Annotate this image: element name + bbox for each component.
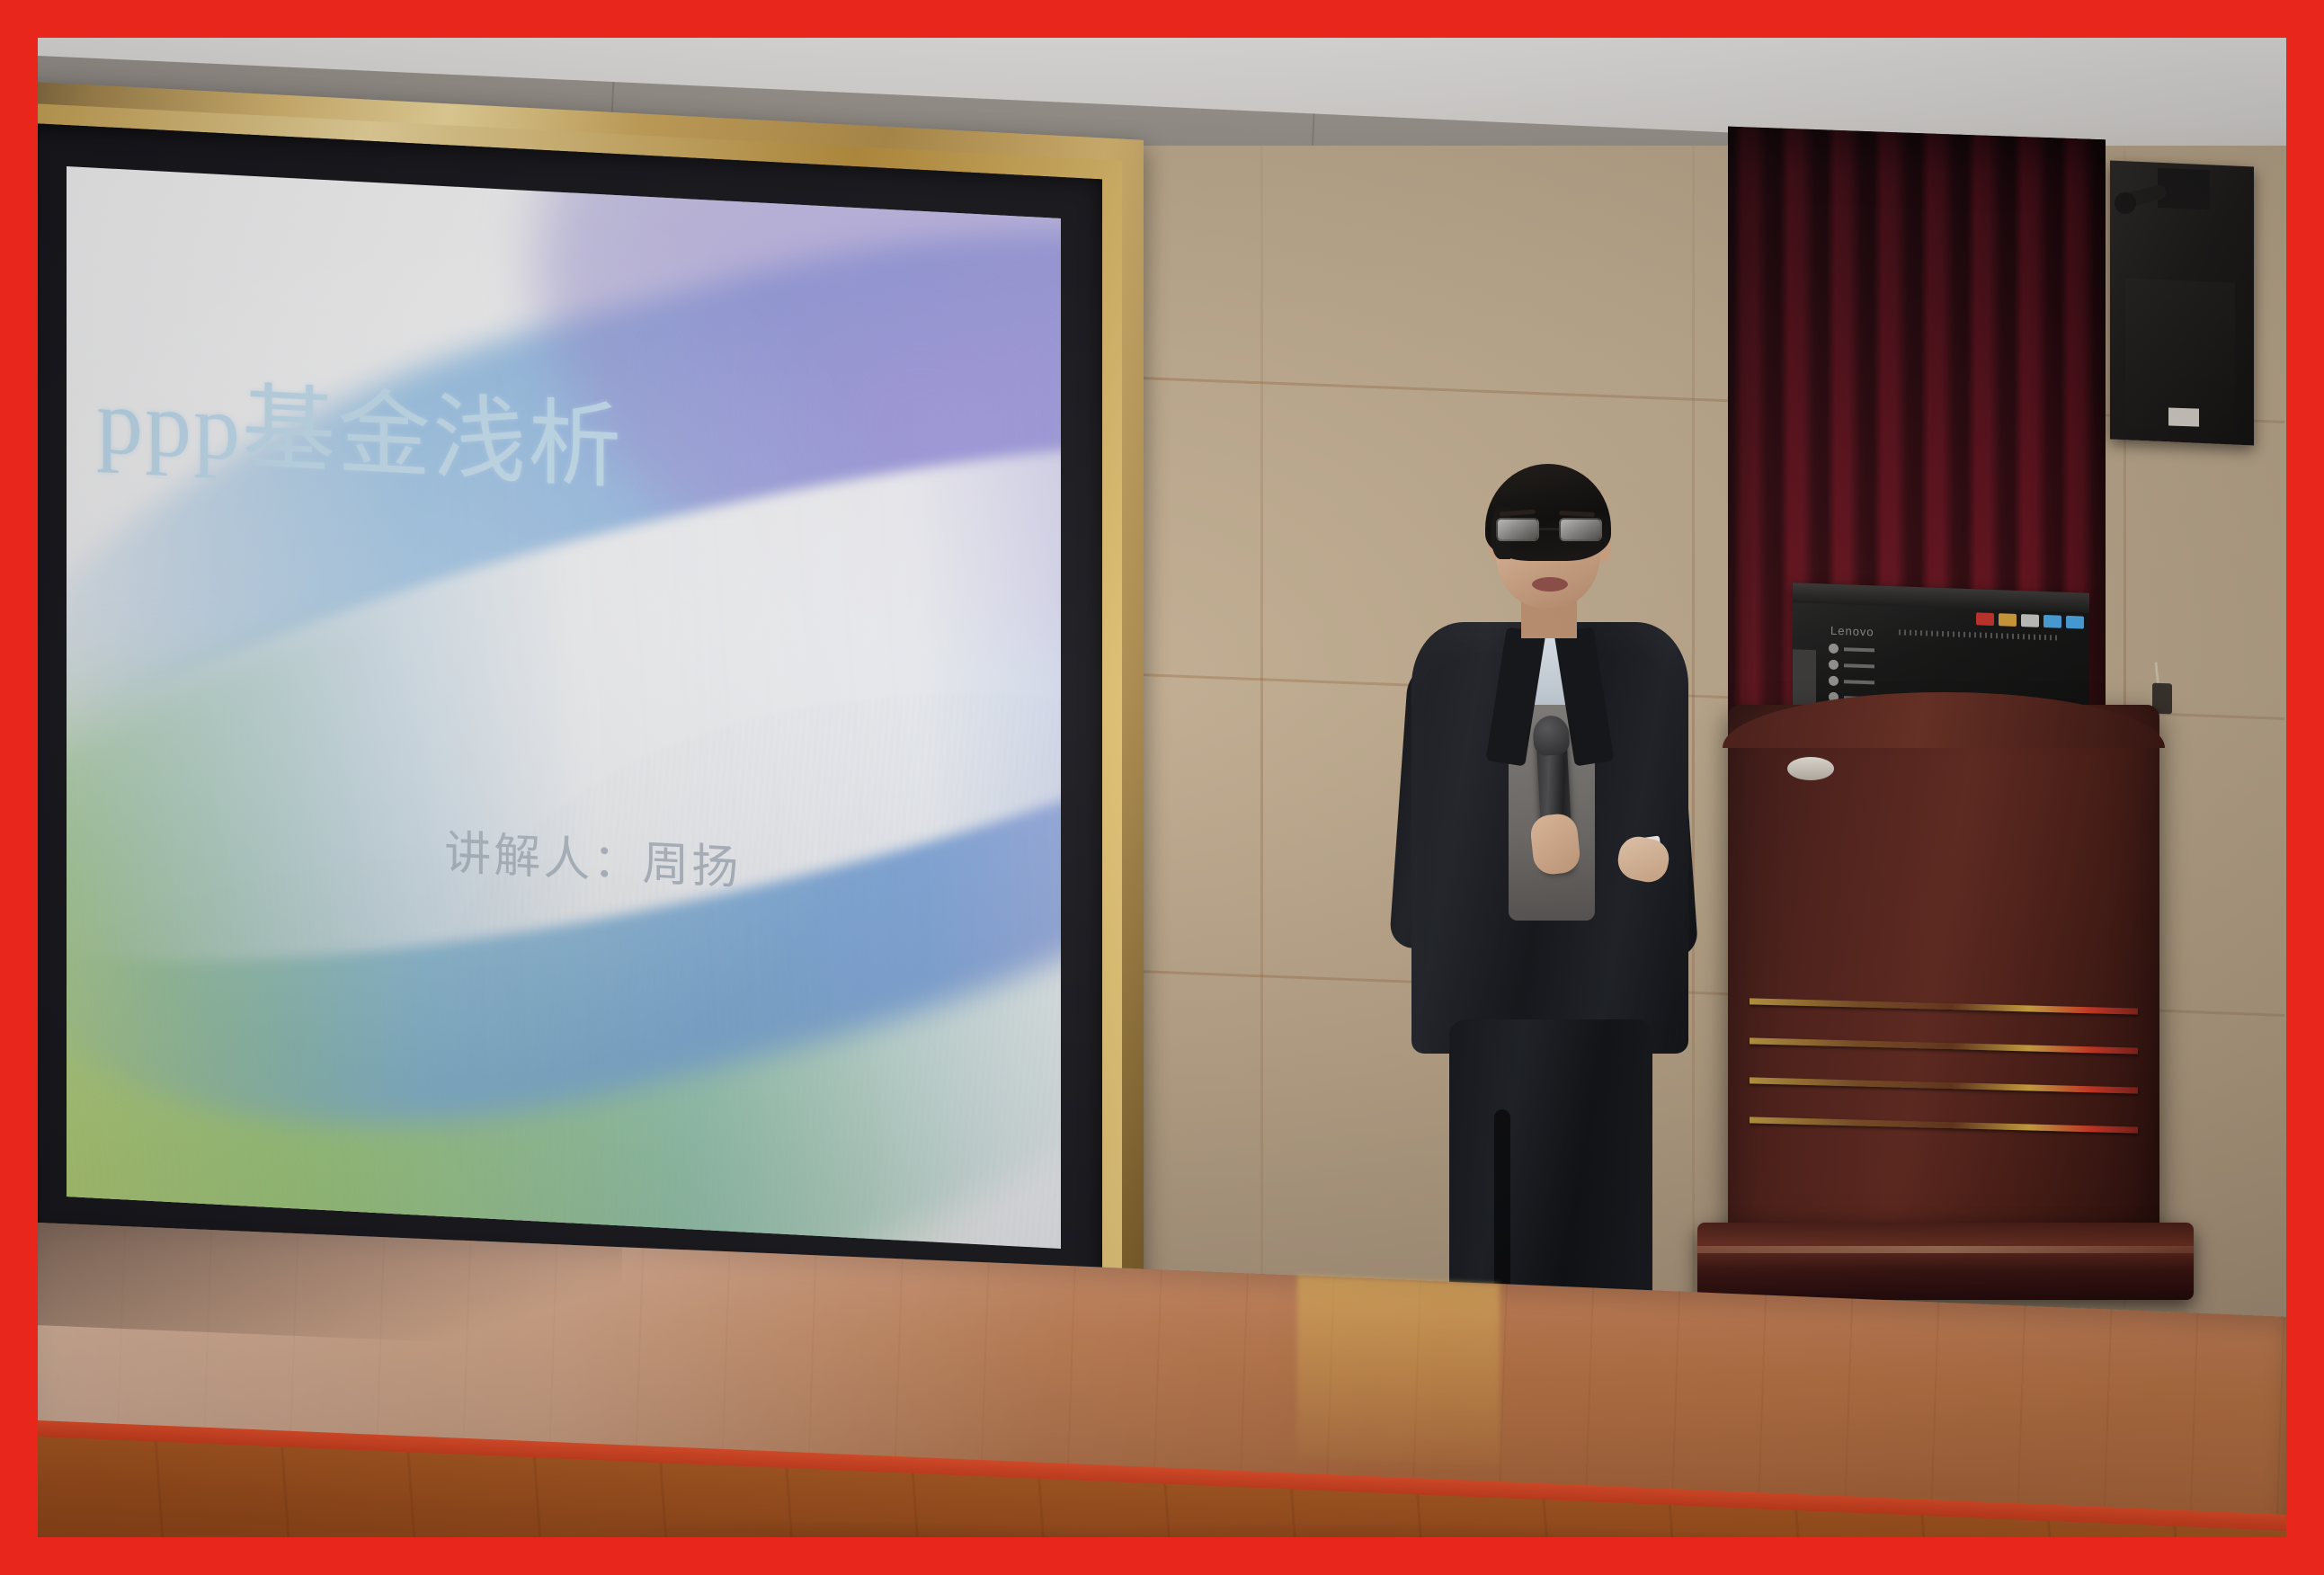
monitor-button-input[interactable] (1829, 676, 1874, 688)
projection-screen: ppp基金浅析 讲解人：周扬 (38, 79, 1144, 1336)
monitor-brand-label: Lenovo (1830, 624, 1874, 639)
monitor-button-power[interactable] (1829, 644, 1874, 655)
red-photo-border: ppp基金浅析 讲解人：周扬 Lenovo (0, 0, 2324, 1575)
slide-background-art (67, 166, 1061, 1249)
podium-gold-stripes (1750, 1003, 2138, 1147)
podium-emblem (1787, 757, 1834, 780)
podium-base (1697, 1223, 2194, 1300)
presenter-hand-holding-mic (1529, 812, 1582, 876)
monitor-indicator-leds (1976, 612, 2084, 628)
presenter-figure (1395, 462, 1701, 1325)
glasses-icon (1496, 518, 1602, 541)
slide-presenter-line: 讲解人：周扬 (444, 814, 741, 897)
presenter-mouth (1532, 577, 1568, 592)
screen-glare (67, 166, 1061, 1249)
photograph: ppp基金浅析 讲解人：周扬 Lenovo (38, 38, 2286, 1537)
slide-title: ppp基金浅析 (96, 343, 623, 507)
monitor-vent-strip (1899, 629, 2061, 640)
monitor-button-menu[interactable] (1829, 660, 1874, 672)
slide-surface: ppp基金浅析 讲解人：周扬 (67, 166, 1061, 1249)
presenter-leg-gap (1494, 1109, 1510, 1307)
floor-reflection-gold-frame (1297, 1276, 1500, 1466)
presenter-trousers (1449, 1019, 1652, 1316)
speaker-badge (2168, 407, 2199, 426)
speaker-pivot-knob (2115, 192, 2136, 214)
podium-body (1728, 705, 2159, 1244)
